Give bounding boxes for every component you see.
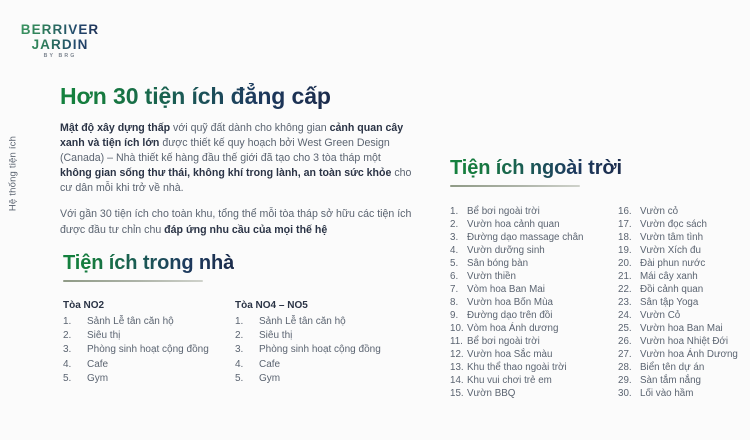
list-item: 5.Gym: [235, 372, 407, 386]
tower-no2-list: 1.Sảnh Lễ tân căn hộ 2.Siêu thị 3.Phòng …: [63, 315, 235, 386]
list-item-label: Vườn BBQ: [467, 387, 515, 400]
list-item-number: 26.: [618, 335, 640, 348]
tower-column-no4-no5: Tòa NO4 – NO5 1.Sảnh Lễ tân căn hộ 2.Siê…: [235, 300, 407, 386]
tower-title: Tòa NO2: [63, 300, 235, 311]
intro-p1-bold-3: không gian sống thư thái, không khí tron…: [60, 167, 391, 179]
list-item-number: 25.: [618, 322, 640, 335]
intro-text: Mật độ xây dựng thấp với quỹ đất dành ch…: [60, 121, 412, 238]
list-item: 2.Siêu thị: [63, 329, 235, 343]
list-item-number: 22.: [618, 283, 640, 296]
list-item-number: 3.: [450, 231, 467, 244]
list-item-label: Sảnh Lễ tân căn hộ: [259, 315, 346, 329]
list-item-number: 2.: [235, 329, 259, 343]
list-item-number: 19.: [618, 244, 640, 257]
list-item: 10.Vòm hoa Ánh dương: [450, 322, 618, 335]
logo-line-1: BERRIVER: [14, 23, 106, 37]
list-item-number: 3.: [63, 343, 87, 357]
list-item-label: Khu thể thao ngoài trời: [467, 361, 567, 374]
list-item: 18.Vườn tâm tình: [618, 231, 740, 244]
outdoor-heading-underline: [450, 185, 580, 187]
outdoor-column-left: 1.Bể bơi ngoài trời2.Vườn hoa cảnh quan3…: [450, 205, 618, 400]
indoor-section-title: Tiện ích trong nhà: [63, 252, 234, 275]
list-item-number: 27.: [618, 348, 640, 361]
list-item: 20.Đài phun nước: [618, 257, 740, 270]
list-item-number: 10.: [450, 322, 467, 335]
list-item: 30.Lối vào hầm: [618, 387, 740, 400]
indoor-amenities: Tòa NO2 1.Sảnh Lễ tân căn hộ 2.Siêu thị …: [63, 300, 423, 386]
indoor-heading-underline: [63, 280, 203, 282]
outdoor-section-header: Tiện ích ngoài trời: [450, 157, 622, 187]
list-item-number: 6.: [450, 270, 467, 283]
list-item-number: 20.: [618, 257, 640, 270]
list-item-number: 3.: [235, 343, 259, 357]
list-item: 3.Phòng sinh hoạt cộng đồng: [235, 343, 407, 357]
list-item-number: 5.: [235, 372, 259, 386]
outdoor-section-title: Tiện ích ngoài trời: [450, 157, 622, 180]
list-item-number: 2.: [63, 329, 87, 343]
side-rail: Hệ thống tiện ích: [0, 0, 26, 440]
list-item-label: Siêu thị: [259, 329, 292, 343]
list-item-label: Mái cây xanh: [640, 270, 698, 283]
list-item: 4.Cafe: [235, 358, 407, 372]
indoor-section-header: Tiện ích trong nhà: [63, 252, 234, 282]
list-item-number: 5.: [63, 372, 87, 386]
list-item-number: 16.: [618, 205, 640, 218]
list-item: 3.Đường dạo massage chân: [450, 231, 618, 244]
list-item-label: Vườn hoa Ánh Dương: [640, 348, 738, 361]
list-item-label: Gym: [87, 372, 108, 386]
list-item-number: 2.: [450, 218, 467, 231]
list-item: 9.Đường dạo trên đồi: [450, 309, 618, 322]
list-item-number: 13.: [450, 361, 467, 374]
outdoor-left-list: 1.Bể bơi ngoài trời2.Vườn hoa cảnh quan3…: [450, 205, 618, 400]
list-item-label: Đài phun nước: [640, 257, 705, 270]
list-item-label: Vòm hoa Ban Mai: [467, 283, 545, 296]
list-item-label: Vườn hoa Ban Mai: [640, 322, 723, 335]
list-item-label: Vườn hoa Bốn Mùa: [467, 296, 553, 309]
list-item: 24.Vườn Cỏ: [618, 309, 740, 322]
list-item: 22.Đồi cảnh quan: [618, 283, 740, 296]
list-item-label: Vườn hoa cảnh quan: [467, 218, 560, 231]
list-item: 1.Sảnh Lễ tân căn hộ: [63, 315, 235, 329]
list-item: 25.Vườn hoa Ban Mai: [618, 322, 740, 335]
list-item-label: Bể bơi ngoài trời: [467, 335, 540, 348]
list-item-label: Vườn cỏ: [640, 205, 678, 218]
logo-line-2: JARDIN: [14, 38, 106, 52]
logo[interactable]: BERRIVER JARDIN BY BRG: [14, 23, 106, 59]
list-item: 27.Vườn hoa Ánh Dương: [618, 348, 740, 361]
list-item-label: Đường dạo trên đồi: [467, 309, 552, 322]
list-item-label: Phòng sinh hoạt cộng đồng: [87, 343, 209, 357]
list-item: 19.Vườn Xích đu: [618, 244, 740, 257]
list-item-label: Cafe: [87, 358, 108, 372]
logo-tagline: BY BRG: [14, 54, 106, 59]
list-item-label: Vườn hoa Nhiệt Đới: [640, 335, 728, 348]
intro-p1-bold-1: Mật độ xây dựng thấp: [60, 122, 170, 134]
list-item-label: Đường dạo massage chân: [467, 231, 583, 244]
list-item-number: 5.: [450, 257, 467, 270]
list-item: 7.Vòm hoa Ban Mai: [450, 283, 618, 296]
list-item-label: Khu vui chơi trẻ em: [467, 374, 552, 387]
list-item-number: 8.: [450, 296, 467, 309]
list-item: 26.Vườn hoa Nhiệt Đới: [618, 335, 740, 348]
list-item: 4.Vườn dưỡng sinh: [450, 244, 618, 257]
list-item: 5.Gym: [63, 372, 235, 386]
list-item-number: 24.: [618, 309, 640, 322]
list-item-label: Biển tên dự án: [640, 361, 704, 374]
list-item-number: 23.: [618, 296, 640, 309]
list-item: 28.Biển tên dự án: [618, 361, 740, 374]
list-item: 11.Bể bơi ngoài trời: [450, 335, 618, 348]
intro-p1-text-1: với quỹ đất dành cho không gian: [170, 122, 330, 134]
list-item-label: Bể bơi ngoài trời: [467, 205, 540, 218]
tower-column-no2: Tòa NO2 1.Sảnh Lễ tân căn hộ 2.Siêu thị …: [63, 300, 235, 386]
list-item-number: 1.: [450, 205, 467, 218]
page-title: Hơn 30 tiện ích đẳng cấp: [60, 83, 331, 110]
list-item-number: 1.: [235, 315, 259, 329]
list-item: 1.Sảnh Lễ tân căn hộ: [235, 315, 407, 329]
list-item: 2.Siêu thị: [235, 329, 407, 343]
list-item-label: Vườn tâm tình: [640, 231, 703, 244]
intro-p2-bold-1: đáp ứng nhu cầu của mọi thế hệ: [164, 224, 327, 236]
list-item-label: Vườn đọc sách: [640, 218, 707, 231]
list-item-label: Sàn tắm nắng: [640, 374, 701, 387]
list-item: 21.Mái cây xanh: [618, 270, 740, 283]
list-item-number: 12.: [450, 348, 467, 361]
list-item-label: Sảnh Lễ tân căn hộ: [87, 315, 174, 329]
list-item-label: Vườn Xích đu: [640, 244, 701, 257]
list-item-number: 28.: [618, 361, 640, 374]
tower-title: Tòa NO4 – NO5: [235, 300, 407, 311]
list-item: 4.Cafe: [63, 358, 235, 372]
list-item: 15.Vườn BBQ: [450, 387, 618, 400]
list-item-number: 14.: [450, 374, 467, 387]
list-item-label: Vườn hoa Sắc màu: [467, 348, 552, 361]
list-item: 3.Phòng sinh hoạt cộng đồng: [63, 343, 235, 357]
list-item-label: Vườn dưỡng sinh: [467, 244, 545, 257]
side-rail-label: Hệ thống tiện ích: [8, 114, 19, 234]
list-item-number: 4.: [450, 244, 467, 257]
list-item-label: Vườn Cỏ: [640, 309, 680, 322]
list-item-label: Phòng sinh hoạt cộng đồng: [259, 343, 381, 357]
list-item-label: Cafe: [259, 358, 280, 372]
list-item: 1.Bể bơi ngoài trời: [450, 205, 618, 218]
intro-paragraph-1: Mật độ xây dựng thấp với quỹ đất dành ch…: [60, 122, 411, 194]
outdoor-amenities: 1.Bể bơi ngoài trời2.Vườn hoa cảnh quan3…: [450, 205, 740, 400]
intro-paragraph-2: Với gần 30 tiện ích cho toàn khu, tổng t…: [60, 207, 412, 237]
list-item-number: 15.: [450, 387, 467, 400]
list-item-number: 29.: [618, 374, 640, 387]
list-item: 6.Vườn thiền: [450, 270, 618, 283]
list-item-number: 7.: [450, 283, 467, 296]
list-item: 17.Vườn đọc sách: [618, 218, 740, 231]
list-item-number: 18.: [618, 231, 640, 244]
list-item-label: Siêu thị: [87, 329, 120, 343]
list-item: 29.Sàn tắm nắng: [618, 374, 740, 387]
list-item-number: 4.: [63, 358, 87, 372]
list-item: 8.Vườn hoa Bốn Mùa: [450, 296, 618, 309]
list-item-number: 11.: [450, 335, 467, 348]
list-item-number: 4.: [235, 358, 259, 372]
list-item-label: Lối vào hầm: [640, 387, 693, 400]
list-item-label: Sân bóng bàn: [467, 257, 528, 270]
tower-no4-no5-list: 1.Sảnh Lễ tân căn hộ 2.Siêu thị 3.Phòng …: [235, 315, 407, 386]
list-item-number: 1.: [63, 315, 87, 329]
list-item-label: Vườn thiền: [467, 270, 516, 283]
outdoor-right-list: 16.Vườn cỏ17.Vườn đọc sách18.Vườn tâm tì…: [618, 205, 740, 400]
list-item-number: 17.: [618, 218, 640, 231]
list-item: 14.Khu vui chơi trẻ em: [450, 374, 618, 387]
outdoor-column-right: 16.Vườn cỏ17.Vườn đọc sách18.Vườn tâm tì…: [618, 205, 740, 400]
list-item: 12.Vườn hoa Sắc màu: [450, 348, 618, 361]
list-item-number: 21.: [618, 270, 640, 283]
list-item-number: 30.: [618, 387, 640, 400]
list-item-label: Đồi cảnh quan: [640, 283, 703, 296]
list-item: 2.Vườn hoa cảnh quan: [450, 218, 618, 231]
list-item-label: Gym: [259, 372, 280, 386]
list-item: 5.Sân bóng bàn: [450, 257, 618, 270]
list-item-number: 9.: [450, 309, 467, 322]
list-item: 13.Khu thể thao ngoài trời: [450, 361, 618, 374]
list-item: 23.Sân tập Yoga: [618, 296, 740, 309]
list-item-label: Sân tập Yoga: [640, 296, 698, 309]
list-item-label: Vòm hoa Ánh dương: [467, 322, 558, 335]
list-item: 16.Vườn cỏ: [618, 205, 740, 218]
